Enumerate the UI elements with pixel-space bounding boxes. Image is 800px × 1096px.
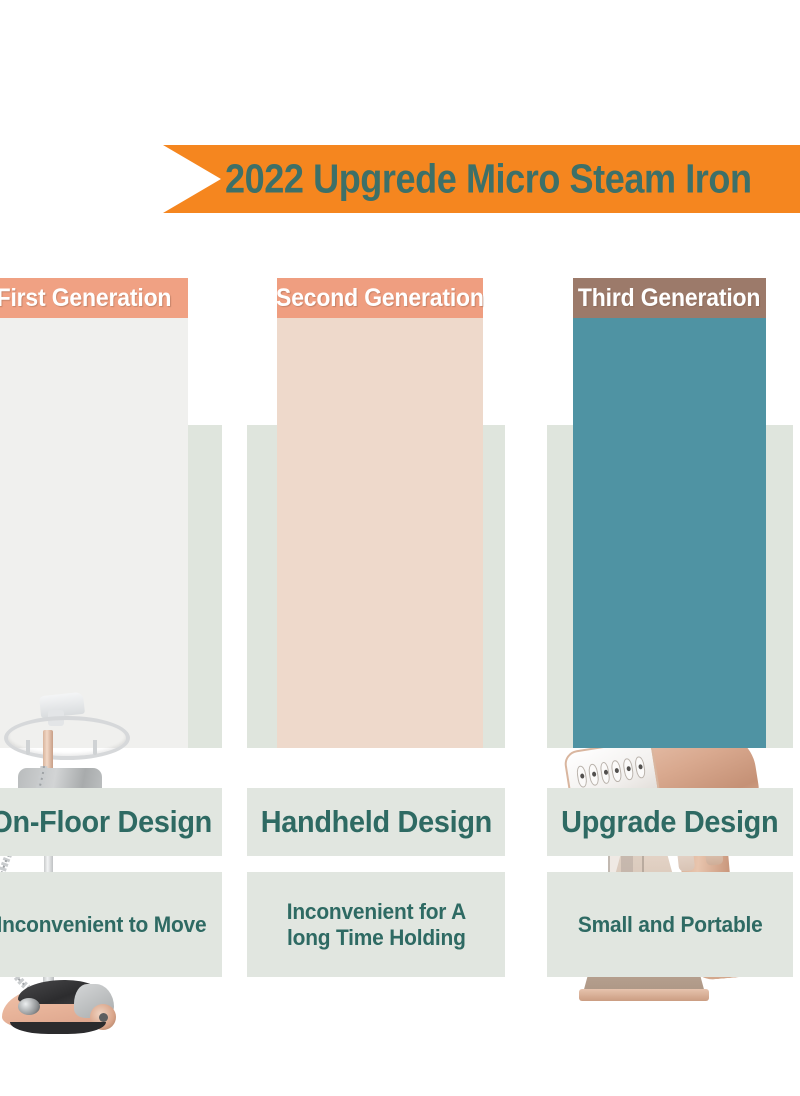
- product-panel-1: [0, 318, 188, 748]
- tank-base: [579, 989, 709, 1001]
- generation-label-2: Second Generation: [276, 284, 484, 313]
- banner-title-text: 2022 Upgrede Micro Steam Iron: [225, 159, 752, 200]
- generation-header-3: Third Generation: [573, 278, 766, 318]
- design-note-line: long Time Holding: [287, 925, 466, 950]
- design-title-3: Upgrade Design: [561, 804, 778, 840]
- generation-header-2: Second Generation: [277, 278, 483, 318]
- base-control-knob: [18, 998, 40, 1015]
- design-note-box-1: Inconvenient to Move: [0, 872, 222, 977]
- nozzle-hole: [611, 760, 623, 783]
- design-title-box-1: On-Floor Design: [0, 788, 222, 856]
- product-panel-3: ≋: [573, 318, 766, 748]
- generation-header-1: First Generation: [0, 278, 188, 318]
- design-note-box-2: Inconvenient for A long Time Holding: [247, 872, 505, 977]
- design-note-line: Small and Portable: [578, 912, 763, 937]
- generation-label-1: First Generation: [0, 284, 171, 313]
- design-note-2: Inconvenient for A long Time Holding: [286, 899, 465, 951]
- design-title-2: Handheld Design: [260, 804, 491, 840]
- product-panel-2: [277, 318, 483, 748]
- design-title-1: On-Floor Design: [0, 804, 212, 840]
- design-note-3: Small and Portable: [578, 912, 763, 938]
- hanger-hook-right: [93, 740, 97, 755]
- steamer-base-unit: [2, 978, 124, 1034]
- design-note-line: Inconvenient for A: [286, 899, 465, 924]
- design-title-box-2: Handheld Design: [247, 788, 505, 856]
- design-note-1: Inconvenient to Move: [0, 912, 206, 938]
- design-note-line: Inconvenient to Move: [0, 912, 206, 937]
- nozzle-hole: [622, 758, 634, 781]
- hanger-ring: [4, 716, 130, 760]
- nozzle-hole: [599, 761, 611, 784]
- product-image-floor-stand-steamer: [0, 686, 155, 1046]
- title-banner: 2022 Upgrede Micro Steam Iron: [163, 145, 800, 213]
- nozzle-hole: [587, 763, 599, 786]
- design-title-box-3: Upgrade Design: [547, 788, 793, 856]
- base-foot: [10, 1022, 106, 1034]
- base-wheel-hub: [99, 1013, 108, 1022]
- design-note-box-3: Small and Portable: [547, 872, 793, 977]
- generation-label-3: Third Generation: [578, 284, 760, 313]
- hanger-hook-left: [26, 740, 30, 755]
